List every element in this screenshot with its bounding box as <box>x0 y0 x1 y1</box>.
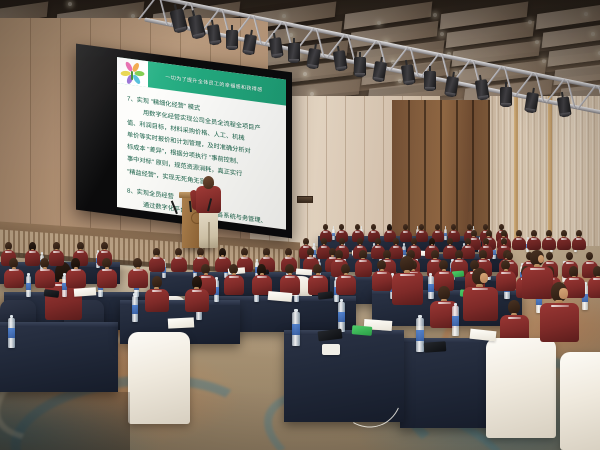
person-torso <box>128 269 148 289</box>
presenter-leg-gap <box>208 222 210 248</box>
person-torso <box>145 289 168 312</box>
polo-collar-trim <box>569 278 579 280</box>
polo-collar-trim <box>335 260 343 262</box>
polo-collar-trim <box>483 246 489 248</box>
person-head <box>593 266 600 277</box>
ceiling-downlight <box>440 32 444 36</box>
bottle-cap <box>418 315 422 318</box>
polo-collar-trim <box>411 246 417 248</box>
polo-collar-trim <box>576 238 582 240</box>
person-face <box>559 288 567 299</box>
polo-collar-trim <box>566 262 574 264</box>
polo-collar-trim <box>257 276 267 278</box>
person-torso <box>336 275 356 295</box>
polo-collar-trim <box>53 251 60 253</box>
ceiling-downlight <box>535 40 539 44</box>
table-surface <box>0 322 118 327</box>
bottle-label <box>338 312 345 322</box>
water-bottle <box>338 302 345 332</box>
polo-collar-trim <box>447 246 453 248</box>
polo-collar-trim <box>530 268 545 270</box>
person-face <box>480 273 487 282</box>
person-torso <box>4 269 24 289</box>
person-head <box>569 266 578 277</box>
person-head <box>438 286 450 300</box>
person-head <box>152 276 162 288</box>
polo-collar-trim <box>77 251 84 253</box>
polo-collar-trim <box>321 246 327 248</box>
polo-collar-trim <box>471 238 477 240</box>
bottle-cap <box>294 309 298 312</box>
bottle-label <box>416 330 424 342</box>
polo-collar-trim <box>451 231 457 233</box>
polo-collar-trim <box>285 276 295 278</box>
polo-collar-trim <box>472 288 488 290</box>
phone-charger-brick <box>322 344 340 355</box>
water-bottle <box>428 276 434 299</box>
polo-collar-trim <box>438 302 451 304</box>
polo-collar-trim <box>400 274 415 276</box>
polo-collar-trim <box>371 231 377 233</box>
person-head <box>400 256 414 272</box>
wall-vent-panel <box>297 196 313 203</box>
smartphone <box>352 325 373 336</box>
person-torso <box>540 303 579 342</box>
polo-collar-trim <box>429 246 435 248</box>
person-torso <box>97 269 117 289</box>
bottle-label <box>452 316 459 326</box>
polo-collar-trim <box>377 272 387 274</box>
polo-collar-trim <box>29 251 36 253</box>
polo-collar-trim <box>357 246 363 248</box>
polo-collar-trim <box>435 231 441 233</box>
polo-collar-trim <box>192 290 203 292</box>
polo-collar-trim <box>339 231 345 233</box>
white-covered-chair <box>486 338 556 438</box>
table-surface <box>120 300 240 305</box>
bottle-label <box>8 328 15 338</box>
polo-collar-trim <box>339 246 345 248</box>
polo-collar-trim <box>313 276 323 278</box>
polo-collar-trim <box>593 278 600 280</box>
water-bottle <box>8 318 15 348</box>
water-bottle <box>416 318 424 352</box>
polo-collar-trim <box>393 246 399 248</box>
bottle-cap <box>10 315 14 318</box>
polo-collar-trim <box>375 246 381 248</box>
polo-collar-trim <box>508 317 521 319</box>
smartphone <box>424 341 447 353</box>
person-torso <box>496 271 516 291</box>
polo-collar-trim <box>431 260 439 262</box>
polo-collar-trim <box>546 262 554 264</box>
bottle-cap <box>340 299 344 302</box>
foreground-floor-shadow <box>0 392 130 450</box>
person-torso <box>392 273 424 305</box>
polo-collar-trim <box>241 257 248 259</box>
polo-collar-trim <box>439 272 449 274</box>
ceiling-downlight <box>377 21 381 25</box>
polo-collar-trim <box>5 251 12 253</box>
polo-collar-trim <box>307 257 314 259</box>
polo-collar-trim <box>419 231 425 233</box>
water-bottle <box>452 306 459 336</box>
polo-collar-trim <box>561 238 567 240</box>
truss-brace <box>577 86 597 109</box>
polo-collar-trim <box>455 260 463 262</box>
bottle-label <box>332 233 335 237</box>
polo-collar-trim <box>479 260 487 262</box>
polo-collar-trim <box>229 276 239 278</box>
polo-collar-trim <box>546 238 552 240</box>
person-torso <box>522 267 554 299</box>
conference-hall-photo: 一切为了提升全体员工的幸福感和获得感 7、实现 "精细化经营" 模式用数字化经营… <box>0 0 600 450</box>
polo-collar-trim <box>153 257 160 259</box>
polo-collar-trim <box>263 257 270 259</box>
water-bottle <box>26 276 31 297</box>
polo-collar-trim <box>219 257 226 259</box>
polo-collar-trim <box>355 231 361 233</box>
polo-collar-trim <box>387 231 393 233</box>
polo-collar-trim <box>341 276 351 278</box>
white-covered-chair <box>128 332 190 424</box>
person-torso <box>224 275 244 295</box>
polo-collar-trim <box>501 272 511 274</box>
polo-collar-trim <box>501 246 507 248</box>
polo-collar-trim <box>586 262 594 264</box>
notepad-sheet <box>168 317 194 328</box>
person-torso <box>185 289 208 312</box>
ceiling-downlight <box>68 2 72 6</box>
person-torso <box>372 271 392 291</box>
ceiling-downlight <box>591 32 595 36</box>
polo-collar-trim <box>551 305 569 307</box>
person-torso <box>66 269 86 289</box>
ceiling-downlight <box>433 13 437 17</box>
bottle-cap <box>133 293 136 296</box>
bottle-cap <box>256 259 258 262</box>
polo-collar-trim <box>465 246 471 248</box>
polo-collar-trim <box>359 260 367 262</box>
bottle-cap <box>403 243 405 246</box>
polo-collar-trim <box>531 238 537 240</box>
polo-collar-trim <box>201 276 211 278</box>
polo-collar-trim <box>175 257 182 259</box>
bottle-label <box>26 283 31 290</box>
bottle-label <box>428 284 434 292</box>
polo-collar-trim <box>285 257 292 259</box>
person-head <box>508 300 520 314</box>
ceiling-downlight <box>282 14 286 18</box>
polo-collar-trim <box>516 238 522 240</box>
polo-collar-trim <box>101 251 108 253</box>
water-bottle <box>292 312 300 346</box>
banquet-table <box>0 322 118 392</box>
polo-collar-trim <box>152 290 163 292</box>
white-covered-chair <box>560 352 600 450</box>
bottle-label <box>132 305 138 314</box>
polo-collar-trim <box>197 257 204 259</box>
water-bottle <box>132 296 138 322</box>
polo-collar-trim <box>403 231 409 233</box>
person-torso <box>35 269 55 289</box>
bottle-cap <box>313 243 315 246</box>
bottle-cap <box>27 273 30 276</box>
bottle-label <box>292 324 300 336</box>
water-bottle <box>332 229 335 240</box>
person-torso <box>463 287 498 322</box>
notepad-sheet <box>74 287 97 297</box>
bottle-cap <box>429 273 432 276</box>
presenter-head <box>203 176 214 189</box>
notepad-sheet <box>296 268 312 275</box>
bottle-label <box>444 233 447 237</box>
bottle-cap <box>454 303 458 306</box>
person-torso <box>588 277 600 298</box>
polo-collar-trim <box>323 231 329 233</box>
bottle-cap <box>41 252 43 255</box>
